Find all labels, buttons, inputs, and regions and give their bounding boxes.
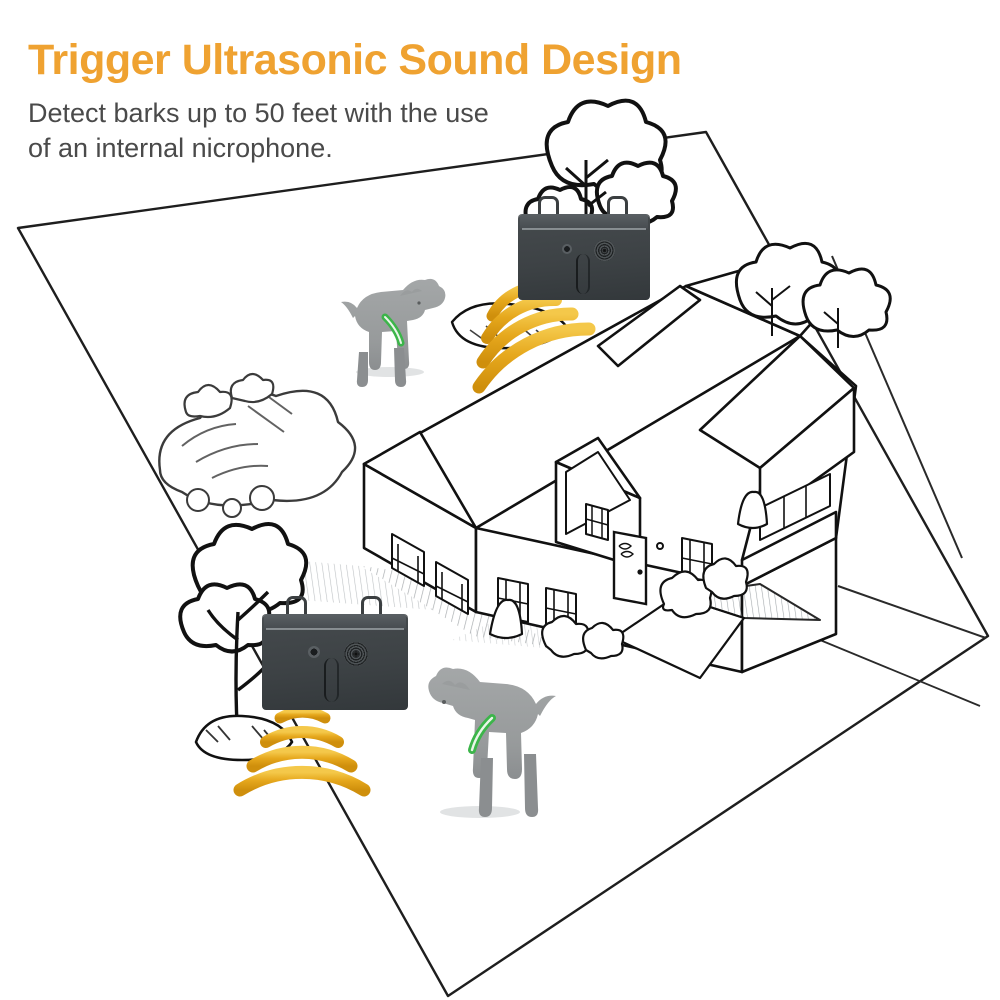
microphone-slot-icon	[576, 254, 590, 294]
device-lid-seam	[266, 628, 404, 630]
speaker-grille-icon	[344, 642, 368, 666]
dog-upper	[341, 279, 445, 387]
sensor-led-icon	[562, 244, 572, 254]
ultrasonic-bark-control-device-upper[interactable]	[518, 196, 650, 300]
device-top-lid	[520, 214, 648, 229]
page-subtitle: Detect barks up to 50 feet with the use …	[28, 96, 508, 168]
infographic-canvas: Trigger Ultrasonic Sound Design Detect b…	[0, 0, 1000, 1000]
speaker-grille-icon	[594, 240, 615, 261]
dog-lower	[428, 668, 556, 818]
text-block: Trigger Ultrasonic Sound Design Detect b…	[28, 38, 648, 167]
shrub-cluster-left	[159, 374, 355, 517]
sensor-led-icon	[308, 646, 320, 658]
device-top-lid	[264, 614, 406, 629]
device-body	[262, 596, 408, 710]
page-title: Trigger Ultrasonic Sound Design	[28, 38, 648, 84]
microphone-slot-icon	[324, 658, 339, 702]
ultrasonic-bark-control-device-lower[interactable]	[262, 596, 408, 710]
device-lid-seam	[522, 228, 646, 230]
device-body	[518, 196, 650, 300]
